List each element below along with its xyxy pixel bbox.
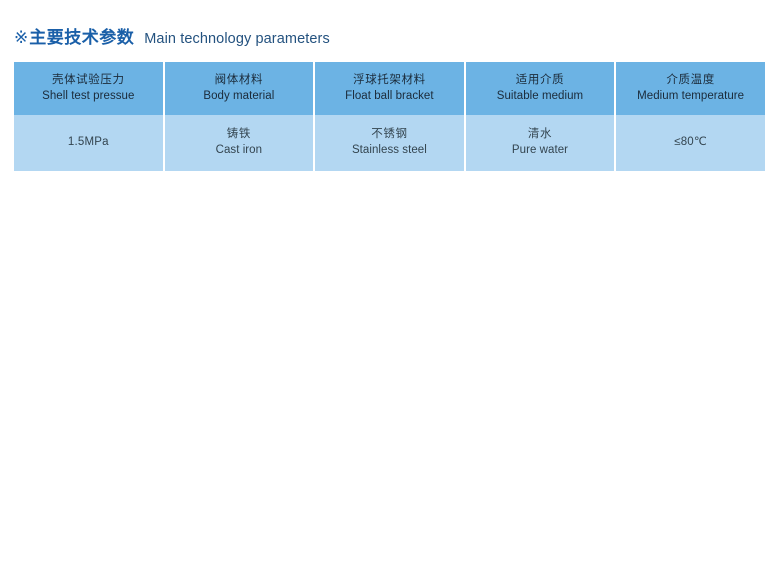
column-header-chinese: 适用介质 bbox=[470, 73, 611, 89]
table-header: 壳体试验压力 Shell test pressue 阀体材料 Body mate… bbox=[14, 62, 765, 115]
cell-value: ≤80℃ bbox=[620, 135, 761, 151]
column-header-english: Medium temperature bbox=[620, 89, 761, 105]
column-header-english: Suitable medium bbox=[470, 89, 611, 105]
column-header-shell-test-pressure: 壳体试验压力 Shell test pressue bbox=[14, 62, 165, 115]
cell-value-chinese: 铸铁 bbox=[169, 127, 310, 143]
table-body: 1.5MPa 铸铁 Cast iron 不锈钢 Stainless steel … bbox=[14, 115, 765, 171]
section-title-chinese: 主要技术参数 bbox=[29, 29, 134, 46]
cell-value-english: Stainless steel bbox=[319, 143, 460, 159]
section-title: ※ 主要技术参数 Main technology parameters bbox=[14, 29, 330, 47]
column-header-chinese: 浮球托架材料 bbox=[319, 73, 460, 89]
column-header-float-ball-bracket: 浮球托架材料 Float ball bracket bbox=[315, 62, 466, 115]
column-header-english: Float ball bracket bbox=[319, 89, 460, 105]
cell-suitable-medium: 清水 Pure water bbox=[466, 115, 617, 171]
column-header-english: Shell test pressue bbox=[18, 89, 159, 105]
document-page: ※ 主要技术参数 Main technology parameters 壳体试验… bbox=[0, 0, 778, 588]
section-title-english: Main technology parameters bbox=[144, 32, 330, 47]
column-header-chinese: 阀体材料 bbox=[169, 73, 310, 89]
cell-value-chinese: 清水 bbox=[470, 127, 611, 143]
cell-float-ball-bracket: 不锈钢 Stainless steel bbox=[315, 115, 466, 171]
column-header-chinese: 壳体试验压力 bbox=[18, 73, 159, 89]
column-header-suitable-medium: 适用介质 Suitable medium bbox=[466, 62, 617, 115]
cell-value: 1.5MPa bbox=[18, 135, 159, 151]
cell-value-english: Cast iron bbox=[169, 143, 310, 159]
column-header-body-material: 阀体材料 Body material bbox=[165, 62, 316, 115]
cell-value-chinese: 不锈钢 bbox=[319, 127, 460, 143]
table-header-row: 壳体试验压力 Shell test pressue 阀体材料 Body mate… bbox=[14, 62, 765, 115]
cell-body-material: 铸铁 Cast iron bbox=[165, 115, 316, 171]
column-header-chinese: 介质温度 bbox=[620, 73, 761, 89]
column-header-english: Body material bbox=[169, 89, 310, 105]
technology-parameters-table: 壳体试验压力 Shell test pressue 阀体材料 Body mate… bbox=[14, 62, 765, 171]
reference-mark-icon: ※ bbox=[14, 29, 28, 46]
cell-medium-temperature: ≤80℃ bbox=[616, 115, 765, 171]
table-row: 1.5MPa 铸铁 Cast iron 不锈钢 Stainless steel … bbox=[14, 115, 765, 171]
cell-value-english: Pure water bbox=[470, 143, 611, 159]
cell-shell-test-pressure: 1.5MPa bbox=[14, 115, 165, 171]
column-header-medium-temperature: 介质温度 Medium temperature bbox=[616, 62, 765, 115]
